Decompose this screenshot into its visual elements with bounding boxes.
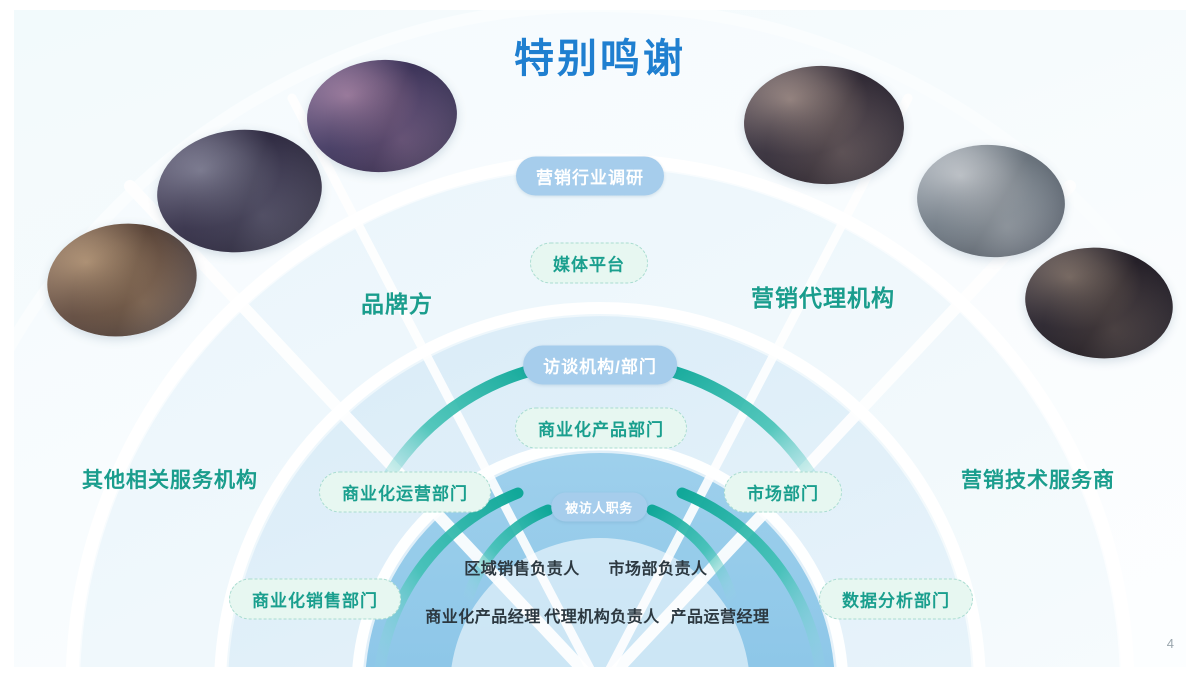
- role-row2-0: 商业化产品经理: [425, 603, 541, 627]
- page-title: 特别鸣谢: [0, 26, 1200, 84]
- photo-content: [151, 122, 328, 261]
- role-row2-2: 产品运营经理: [670, 603, 769, 627]
- frame-edge-bottom: [0, 667, 1200, 675]
- photo-content: [741, 62, 907, 188]
- role-row2-1: 代理机构负责人: [544, 603, 660, 627]
- side-pill-3[interactable]: 数据分析部门: [819, 579, 973, 620]
- photo-content: [1019, 239, 1179, 366]
- photo-group-store: [741, 62, 907, 188]
- center-pill-0[interactable]: 营销行业调研: [516, 157, 664, 196]
- photo-meeting-room: [151, 122, 328, 261]
- side-pill-2[interactable]: 商业化销售部门: [229, 579, 401, 620]
- center-pill-1[interactable]: 媒体平台: [530, 243, 648, 284]
- side-pill-1[interactable]: 市场部门: [724, 472, 842, 513]
- role-row1-1: 市场部负责人: [608, 555, 707, 579]
- frame-edge-left: [0, 0, 14, 675]
- fan-label-0: 品牌方: [361, 285, 433, 319]
- fan-label-2: 其他相关服务机构: [82, 464, 258, 494]
- side-pill-0[interactable]: 商业化运营部门: [319, 472, 491, 513]
- frame-edge-top: [0, 0, 1200, 10]
- fan-label-1: 营销代理机构: [751, 279, 895, 313]
- center-pill-2[interactable]: 访谈机构/部门: [523, 346, 677, 385]
- role-row1-0: 区域销售负责人: [464, 555, 580, 579]
- photo-content: [303, 55, 460, 177]
- page-number: 4: [1167, 636, 1174, 651]
- slide-root: 特别鸣谢 品牌方营销代理机构其他相关服务机构营销技术服务商 营销行业调研媒体平台…: [0, 0, 1200, 675]
- frame-edge-right: [1186, 0, 1200, 675]
- photo-group-bar: [1019, 239, 1179, 366]
- center-pill-4[interactable]: 被访人职务: [551, 493, 647, 522]
- photo-group-neon: [303, 55, 460, 177]
- fan-label-3: 营销技术服务商: [961, 464, 1115, 494]
- center-pill-3[interactable]: 商业化产品部门: [515, 408, 687, 449]
